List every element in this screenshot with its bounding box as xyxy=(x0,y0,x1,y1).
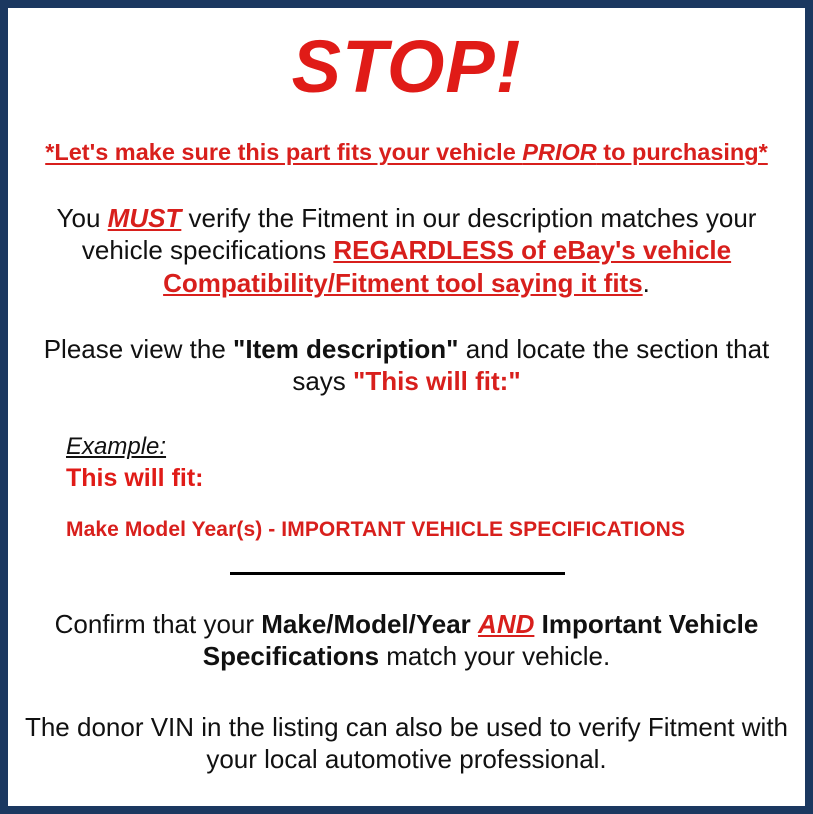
must-seg1: You xyxy=(57,203,108,233)
and-emphasis: AND xyxy=(478,609,534,639)
example-spec-line: Make Model Year(s) - IMPORTANT VEHICLE S… xyxy=(66,517,793,542)
must-emphasis: MUST xyxy=(108,203,182,233)
example-label: Example: xyxy=(66,433,166,461)
fitment-notice-card: STOP! *Let's make sure this part fits yo… xyxy=(0,0,813,814)
paragraph-donor-vin: The donor VIN in the listing can also be… xyxy=(20,711,793,775)
make-model-year-emphasis: Make/Model/Year xyxy=(261,609,471,639)
headline-verify-fitment: *Let's make sure this part fits your veh… xyxy=(20,138,793,166)
headline-emphasis-prior: PRIOR xyxy=(522,139,596,165)
headline-part2: to purchasing* xyxy=(597,139,768,165)
confirm-seg4: match your vehicle. xyxy=(379,641,610,671)
example-label-row: Example: xyxy=(66,433,793,461)
confirm-seg3 xyxy=(534,609,541,639)
notice-body: STOP! *Let's make sure this part fits yo… xyxy=(8,8,805,806)
view-seg1: Please view the xyxy=(44,334,233,364)
paragraph-confirm-match: Confirm that your Make/Model/Year AND Im… xyxy=(20,608,793,672)
divider-line xyxy=(230,572,565,575)
example-block: Example: This will fit: Make Model Year(… xyxy=(20,433,793,542)
paragraph-must-verify: You MUST verify the Fitment in our descr… xyxy=(20,202,793,299)
paragraph-item-description: Please view the "Item description" and l… xyxy=(20,333,793,397)
headline-part1: *Let's make sure this part fits your veh… xyxy=(45,139,522,165)
confirm-seg2 xyxy=(471,609,478,639)
must-seg3: . xyxy=(643,268,650,298)
stop-title: STOP! xyxy=(20,30,793,104)
closing-thank-you: Thank you for confirming Fitment! xyxy=(20,801,793,814)
confirm-seg1: Confirm that your xyxy=(55,609,262,639)
example-fit-heading: This will fit: xyxy=(66,463,793,493)
this-will-fit-emphasis: "This will fit:" xyxy=(353,366,521,396)
item-description-emphasis: "Item description" xyxy=(233,334,458,364)
